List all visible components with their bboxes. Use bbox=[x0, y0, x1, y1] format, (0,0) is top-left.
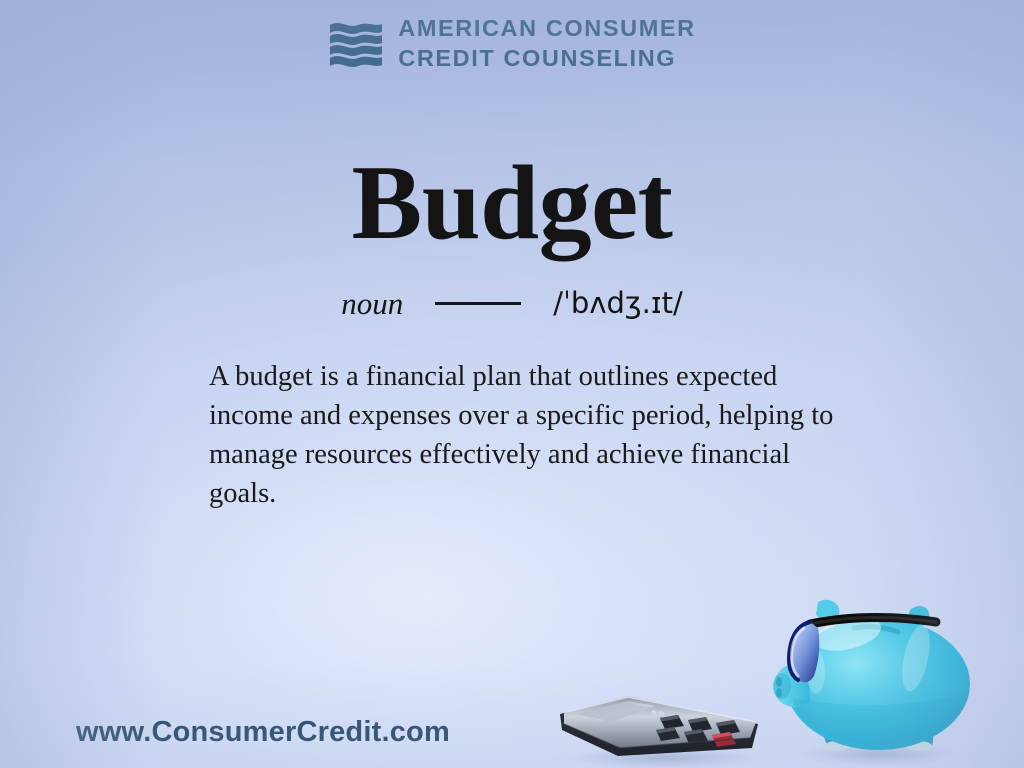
wave-flag-logo-icon bbox=[328, 20, 384, 68]
part-of-speech: noun bbox=[341, 288, 403, 319]
brand-logo[interactable]: AMERICAN CONSUMER CREDIT COUNSELING bbox=[0, 17, 1024, 70]
separator-rule-icon bbox=[435, 302, 521, 305]
phonetic-pronunciation: /ˈbʌdʒ.ɪt/ bbox=[553, 289, 683, 318]
piggy-bank-with-glasses-photo bbox=[766, 586, 984, 768]
pronunciation-row: noun /ˈbʌdʒ.ɪt/ bbox=[0, 288, 1024, 319]
headword: Budget bbox=[0, 150, 1024, 256]
dictionary-card: AMERICAN CONSUMER CREDIT COUNSELING Budg… bbox=[0, 0, 1024, 768]
brand-line-2: CREDIT COUNSELING bbox=[398, 47, 695, 71]
brand-line-1: AMERICAN CONSUMER bbox=[398, 17, 695, 41]
brand-wordmark: AMERICAN CONSUMER CREDIT COUNSELING bbox=[398, 17, 695, 70]
website-url[interactable]: www.ConsumerCredit.com bbox=[76, 716, 450, 749]
calculator-photo bbox=[552, 678, 764, 768]
definition-text: A budget is a financial plan that outlin… bbox=[209, 357, 849, 513]
